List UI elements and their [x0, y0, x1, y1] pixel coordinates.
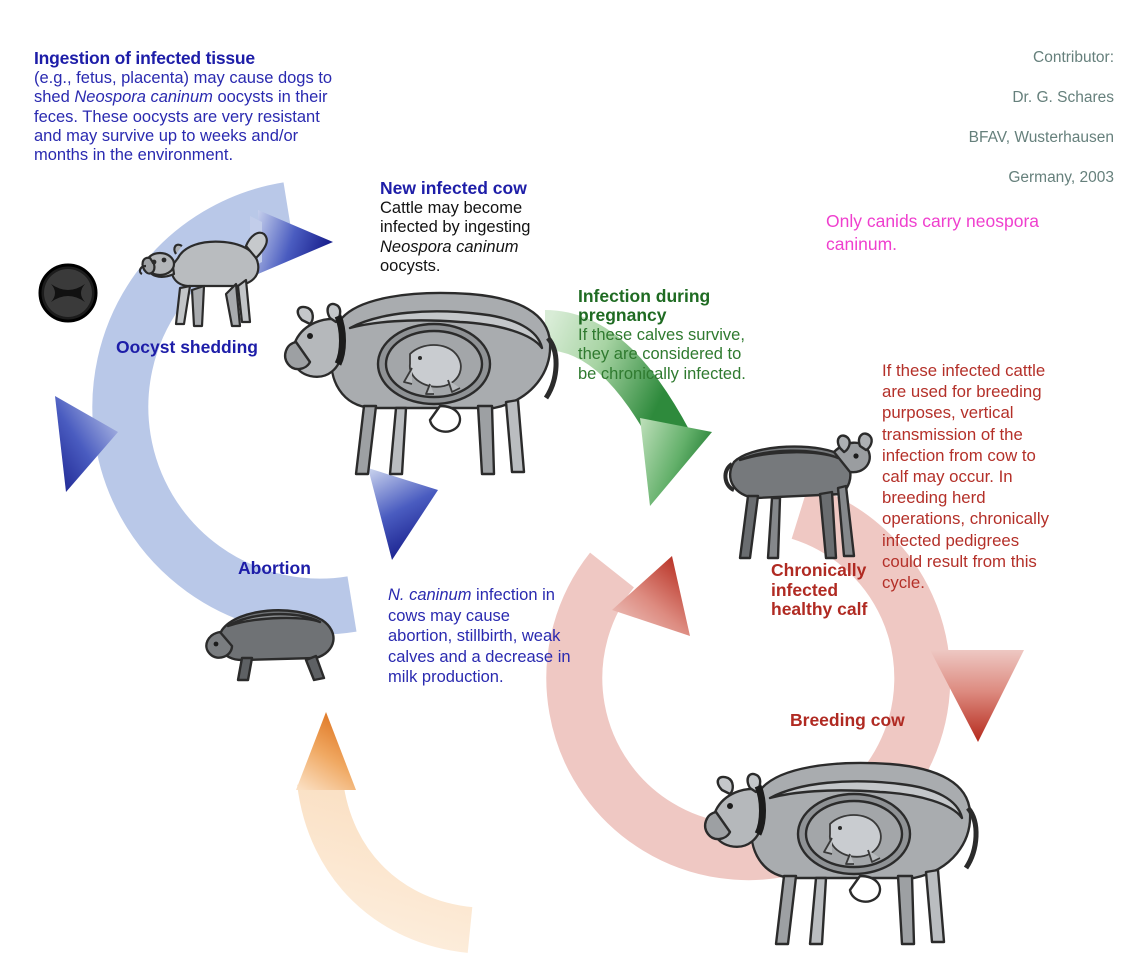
contributor-line-2: Dr. G. Schares [969, 88, 1114, 108]
pregnancy-body: If these calves survive, they are consid… [578, 326, 746, 383]
dog-figure [132, 214, 272, 342]
scientific-name: Neospora caninum [74, 88, 213, 106]
canids-annotation: Only canids carry neospora caninum. [826, 210, 1056, 256]
new-infected-cow-block: New infected cowCattle may become infect… [380, 160, 560, 276]
breeding-cow-figure [700, 740, 990, 954]
scientific-name: N. caninum [388, 586, 471, 604]
calf-figure [700, 418, 880, 578]
pregnant-cow-figure [280, 268, 570, 488]
label-oocyst-shedding: Oocyst shedding [116, 337, 258, 358]
pregnancy-heading: Infection during pregnancy [578, 287, 753, 326]
label-chronically-infected-calf: Chronically infected healthy calf [771, 561, 881, 620]
oocyst-icon [37, 262, 99, 324]
contributor-line-3: BFAV, Wusterhausen [969, 128, 1114, 148]
contributor-line-4: Germany, 2003 [969, 168, 1114, 188]
breeding-note-block: If these infected cattle are used for br… [882, 360, 1054, 593]
pregnancy-block: Infection during pregnancyIf these calve… [578, 267, 753, 385]
label-breeding-cow: Breeding cow [790, 710, 905, 731]
scientific-name: Neospora caninum [380, 238, 519, 256]
contributor-block: Contributor: Dr. G. Schares BFAV, Wuster… [969, 28, 1114, 208]
label-abortion: Abortion [238, 558, 311, 579]
diagram-canvas: Ingestion of infected tissue(e.g., fetus… [0, 0, 1132, 956]
ingestion-text-block: Ingestion of infected tissue(e.g., fetus… [34, 30, 344, 166]
new-infected-cow-heading: New infected cow [380, 179, 560, 198]
abortion-note-block: N. caninum infection in cows may cause a… [388, 585, 578, 688]
aborted-fetus-figure [198, 590, 348, 686]
ingestion-body: (e.g., fetus, placenta) may cause dogs t… [34, 69, 332, 165]
contributor-line-1: Contributor: [969, 48, 1114, 68]
new-infected-cow-body: Cattle may become infected by ingesting … [380, 199, 530, 275]
ingestion-heading: Ingestion of infected tissue [34, 49, 344, 68]
